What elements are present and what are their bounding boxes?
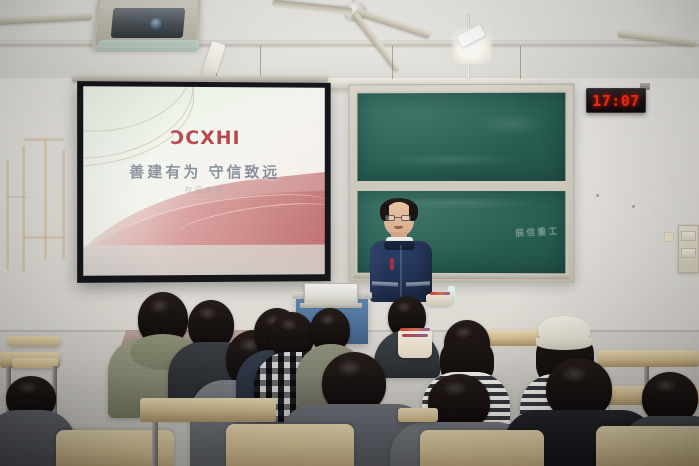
desk-leg [152,422,158,466]
light-hanging-wire [520,46,521,79]
wall-tape-mark [24,138,64,141]
wall-tape-mark [62,150,65,260]
slide-logo-text: CXHI [185,127,240,149]
slide-bottom-band [83,244,325,275]
slide-title: 善建有为 守信致远 [83,161,325,182]
wall-tape-mark [6,160,9,270]
slide-logo-mark: C [169,127,184,149]
glasses-icon [385,215,395,221]
wall-tape-mark [22,146,25,272]
fan-blade [618,30,696,46]
chair-back [226,424,354,466]
slide-surface: CCXHI 善建有为 守信致远 校园宣讲 [83,86,325,276]
presenter [362,196,440,302]
fan-blade [0,13,92,25]
panel-breaker-row[interactable] [681,248,696,258]
ceiling-projector [111,8,186,38]
slide-subtitle: 校园宣讲 [83,185,325,195]
ceiling-fan-left [0,14,96,34]
wall-tape-mark [44,140,47,260]
chalk-smudge [477,113,547,135]
slide-logo: CCXHI [83,127,325,150]
colored-item [430,292,450,295]
chalk-smudge [377,153,527,167]
laptop[interactable] [304,283,358,305]
presenter-badge [390,258,394,270]
ceiling-fan-right [618,26,699,46]
chair-back [596,426,699,466]
ceiling-fan-center [300,0,460,42]
wall-tape-mark [24,236,64,239]
digital-clock: 17:07 [586,88,646,113]
blackboard-chalk-text: 辰信重工 [515,224,560,239]
presenter-jacket-zip [400,245,402,297]
glasses-bridge [395,217,401,218]
light-hanging-wire [260,46,261,79]
clock-time: 17:07 [592,92,640,110]
glasses-icon [401,215,411,221]
projector-lens-icon [150,18,164,30]
desk-edge [140,413,276,422]
chair-back [420,430,544,466]
panel-breaker-row[interactable] [681,231,696,241]
blackboard-upper-panel [355,91,567,183]
wall-nail [632,205,635,208]
desk [398,408,438,422]
wall-nail [596,194,599,197]
wall-tape-mark [6,196,26,198]
wall-sticker [664,232,674,242]
desk [140,398,276,414]
light-hanging-wire [392,46,393,79]
classroom-photo: CCXHI 善建有为 守信致远 校园宣讲 辰信重工 17:07 [0,0,699,466]
desk [8,336,60,346]
projector-cage-glass [97,40,200,52]
electrical-panel[interactable] [678,225,699,273]
cap-brim [536,338,592,350]
projection-screen: CCXHI 善建有为 守信致远 校园宣讲 [77,81,331,283]
